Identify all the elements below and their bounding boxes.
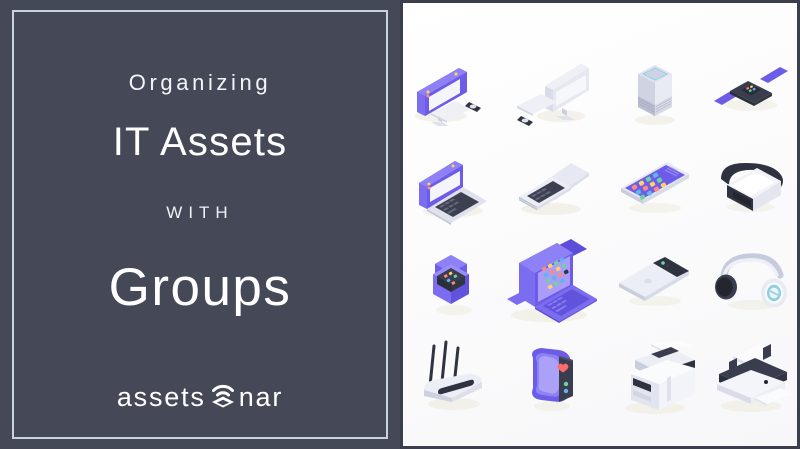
device-over-ear-headphones (703, 235, 799, 330)
device-laptop-open-purple-screen (411, 140, 497, 235)
device-smartphone-rear-camera (607, 235, 703, 330)
device-smartwatch-flat-band (703, 45, 799, 140)
illustration-panel (400, 0, 800, 449)
device-smartphone-app-grid (607, 140, 703, 235)
device-fitness-band-heart-rate (497, 329, 607, 424)
title-line-groups: Groups (109, 261, 292, 314)
title-line-organizing: Organizing (129, 72, 271, 94)
isometric-device-grid (411, 45, 789, 424)
device-smart-speaker-tower (607, 45, 703, 140)
device-wifi-router-three-antennas (411, 329, 497, 424)
device-smartwatch-upright (411, 235, 497, 330)
device-all-in-one-imac-keyboard-mouse (497, 45, 607, 140)
device-vr-headset (703, 140, 799, 235)
device-desktop-monitor-keyboard-mouse (411, 45, 497, 140)
device-office-copier-multifunction (607, 329, 703, 424)
title-panel: Organizing IT Assets with Groups assets … (0, 0, 400, 449)
logo-text-suffix: nar (239, 384, 283, 411)
device-laptop-rear-view-silver (497, 140, 607, 235)
title-line-with: with (166, 204, 233, 221)
logo-text-prefix: assets (117, 384, 206, 411)
device-inkjet-printer-paper (703, 329, 799, 424)
assetsonar-logo: assets nar (0, 381, 400, 413)
title-line-it-assets: IT Assets (113, 122, 288, 162)
slide-canvas: Organizing IT Assets with Groups assets … (0, 0, 800, 449)
sonar-cube-wifi-icon (208, 381, 238, 413)
device-tablet-with-keyboard-folio (497, 235, 607, 330)
